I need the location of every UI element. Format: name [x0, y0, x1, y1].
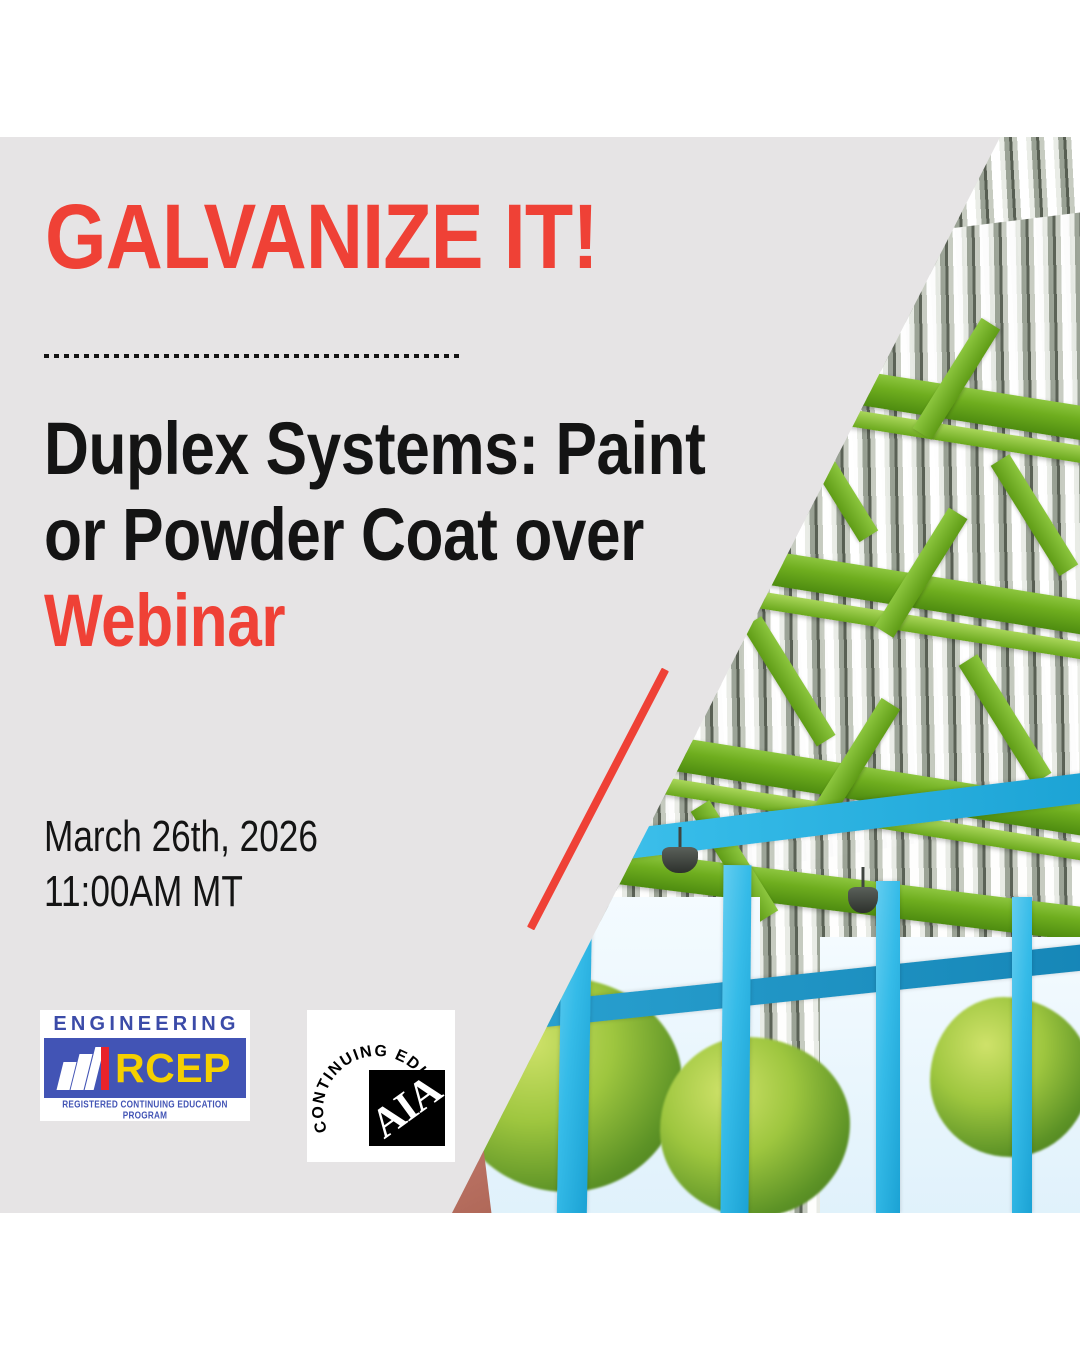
kicker-title: GALVANIZE IT! [45, 194, 598, 281]
blue-column-3 [720, 865, 751, 1213]
foliage-3 [930, 997, 1080, 1157]
text-column: GALVANIZE IT! Duplex Systems: Paint or P… [0, 137, 560, 1213]
blue-column-5 [1012, 897, 1032, 1213]
event-datetime: March 26th, 2026 11:00AM MT [44, 809, 318, 919]
logo-row: ENGINEERING RCEP REGISTERED CONTINUING E… [40, 1010, 455, 1162]
blue-column-4 [876, 881, 900, 1213]
event-date: March 26th, 2026 [44, 809, 318, 864]
rcep-subtitle: REGISTERED CONTINUING EDUCATION PROGRAM [44, 1099, 246, 1122]
top-white-band [0, 0, 1080, 137]
svg-text:AIA: AIA [369, 1070, 445, 1146]
rcep-logo: ENGINEERING RCEP REGISTERED CONTINUING E… [40, 1010, 250, 1121]
poster-root: GALVANIZE IT! Duplex Systems: Paint or P… [0, 0, 1080, 1350]
blue-column-2 [557, 849, 593, 1213]
foliage-2 [660, 1037, 850, 1213]
headline-line-2: Powder Coat over [122, 493, 644, 576]
truss-web-4 [713, 284, 801, 406]
headline-accent-webinar: Webinar [44, 578, 716, 664]
pendant-lamp-4 [848, 867, 878, 909]
headline-block: Duplex Systems: Paint or Powder Coat ove… [44, 406, 716, 663]
poster-canvas: GALVANIZE IT! Duplex Systems: Paint or P… [0, 137, 1080, 1213]
rcep-wordmark: RCEP [115, 1048, 231, 1089]
rcep-blue-bar: RCEP [44, 1038, 246, 1098]
aia-black-square: AIA [369, 1070, 445, 1146]
dotted-divider [44, 354, 464, 358]
aia-monogram: AIA [369, 1070, 445, 1146]
rcep-engineering-text: ENGINEERING [44, 1013, 246, 1036]
bottom-white-band [0, 1213, 1080, 1350]
pendant-lamp-3 [662, 827, 698, 873]
rcep-books-icon [59, 1046, 113, 1090]
event-time: 11:00AM MT [44, 864, 318, 919]
aia-logo: CONTINUING EDUCATION AIA [307, 1010, 455, 1162]
